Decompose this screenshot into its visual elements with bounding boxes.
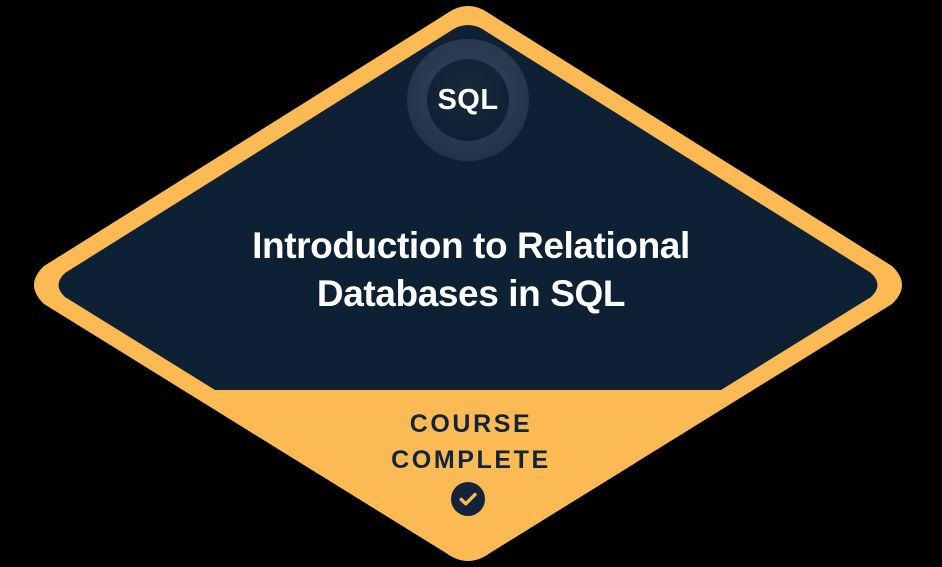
sql-logo: SQL [408, 40, 528, 160]
course-title: Introduction to Relational Databases in … [121, 222, 821, 318]
sql-logo-label: SQL [437, 86, 498, 115]
status-line-course: COURSE [221, 406, 721, 442]
course-title-line-1: Introduction to Relational [121, 222, 821, 270]
course-title-line-2: Databases in SQL [121, 270, 821, 318]
badge-stage: SQL Introduction to Relational Databases… [0, 0, 942, 567]
check-circle-icon [451, 482, 485, 516]
status-badge: COURSE COMPLETE [221, 406, 721, 478]
check-circle-bg [451, 482, 485, 516]
status-line-complete: COMPLETE [221, 442, 721, 478]
